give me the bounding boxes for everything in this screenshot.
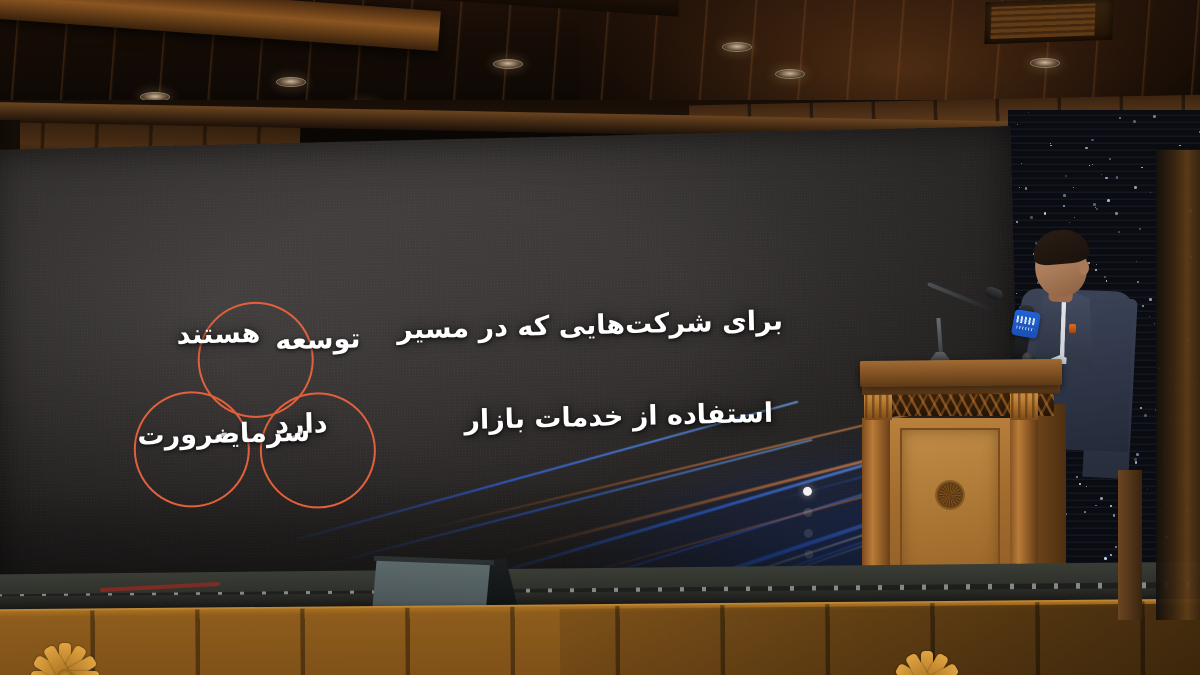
star-dot	[1107, 199, 1110, 202]
star-dot	[1095, 505, 1096, 506]
star-dot	[1025, 187, 1027, 189]
star-dot	[1149, 316, 1150, 317]
downlight-ring	[722, 42, 752, 52]
slide-content: برای شرکت‌هایی که در مسیر هستند استفاده …	[62, 281, 787, 498]
star-dot	[1140, 407, 1142, 409]
star-dot	[1118, 231, 1120, 233]
star-dot	[1149, 298, 1152, 301]
venn-label-top: توسعه	[275, 323, 361, 356]
star-dot	[1028, 112, 1029, 113]
stage-photo-scene: برای شرکت‌هایی که در مسیر هستند استفاده …	[0, 0, 1200, 675]
press-logo-icon	[1016, 315, 1037, 325]
star-dot	[1086, 486, 1087, 487]
star-dot	[1115, 212, 1118, 215]
star-dot	[1016, 221, 1018, 223]
slide-line-2-text: استفاده از خدمات بازار	[464, 398, 774, 436]
downlight-ring	[775, 69, 805, 79]
slide-dot[interactable]	[804, 529, 813, 538]
slide-dot[interactable]	[803, 508, 812, 517]
star-dot	[1096, 208, 1098, 210]
star-dot	[1136, 453, 1139, 456]
star-dot	[1074, 217, 1075, 218]
star-dot	[1105, 177, 1108, 180]
star-dot	[1150, 192, 1151, 193]
star-dot	[1085, 147, 1087, 149]
star-dot	[1113, 514, 1115, 516]
star-dot	[1044, 212, 1047, 215]
star-dot	[1135, 461, 1137, 463]
star-dot	[1069, 222, 1070, 223]
podium-capital-right	[1010, 390, 1038, 420]
star-dot	[1065, 175, 1067, 177]
star-dot	[1133, 120, 1136, 123]
downlight-ring	[276, 77, 306, 87]
star-dot	[1154, 323, 1155, 324]
vent-louvers	[990, 3, 1095, 39]
star-dot	[1017, 124, 1018, 125]
star-dot	[1093, 203, 1096, 206]
star-dot	[1136, 261, 1137, 262]
star-dot	[1116, 176, 1118, 178]
star-dot	[1030, 216, 1033, 219]
stage-rosette-right	[890, 648, 964, 675]
star-dot	[1109, 158, 1111, 160]
star-dot	[1095, 207, 1096, 208]
slide-dot-active[interactable]	[803, 487, 812, 496]
right-wood-strip	[1118, 470, 1142, 620]
stage-front-shadow	[560, 603, 1200, 675]
star-dot	[1050, 143, 1051, 144]
star-dot	[1019, 187, 1020, 188]
lapel-pin-icon	[1069, 324, 1076, 333]
star-dot	[1100, 497, 1103, 500]
downlight-ring	[1030, 58, 1060, 68]
star-dot	[1137, 281, 1139, 283]
star-dot	[1021, 163, 1022, 164]
star-dot	[1091, 139, 1093, 141]
speaker-ear	[1079, 260, 1089, 275]
star-dot	[1104, 557, 1107, 560]
press-mic-flag	[1011, 309, 1041, 339]
stage-rosette-left	[28, 640, 102, 675]
downlight-ring	[493, 59, 523, 69]
star-dot	[1139, 228, 1141, 230]
star-dot	[1092, 164, 1093, 165]
right-wood-pillar	[1156, 150, 1200, 620]
star-dot	[1063, 205, 1065, 207]
star-dot	[1134, 186, 1137, 189]
star-dot	[1119, 117, 1121, 119]
star-dot	[1050, 145, 1051, 146]
press-logo-subtext	[1016, 325, 1034, 331]
venn-label-left: ضرورت	[137, 418, 240, 451]
star-dot	[1089, 165, 1090, 166]
star-dot	[1063, 194, 1066, 197]
star-dot	[1084, 511, 1086, 513]
star-dot	[1115, 546, 1117, 548]
star-dot	[1179, 145, 1180, 146]
star-dot	[1110, 554, 1112, 556]
podium-rosette-medallion	[937, 482, 963, 508]
star-dot	[1079, 483, 1081, 485]
star-dot	[1110, 505, 1112, 507]
podium-top-surface	[860, 359, 1062, 387]
slide-dot[interactable]	[804, 550, 813, 559]
star-dot	[1073, 187, 1074, 188]
star-dot	[1076, 476, 1078, 478]
slide-line-1-text: برای شرکت‌هایی که در مسیر	[397, 305, 784, 345]
slide-line-1-tail: هستند	[176, 318, 261, 351]
star-dot	[1144, 414, 1147, 417]
ceiling-air-vent	[984, 0, 1113, 44]
star-dot	[1142, 305, 1144, 307]
star-dot	[1141, 167, 1142, 168]
star-dot	[1101, 174, 1102, 175]
star-dot	[1153, 115, 1156, 118]
star-dot	[1147, 489, 1148, 490]
